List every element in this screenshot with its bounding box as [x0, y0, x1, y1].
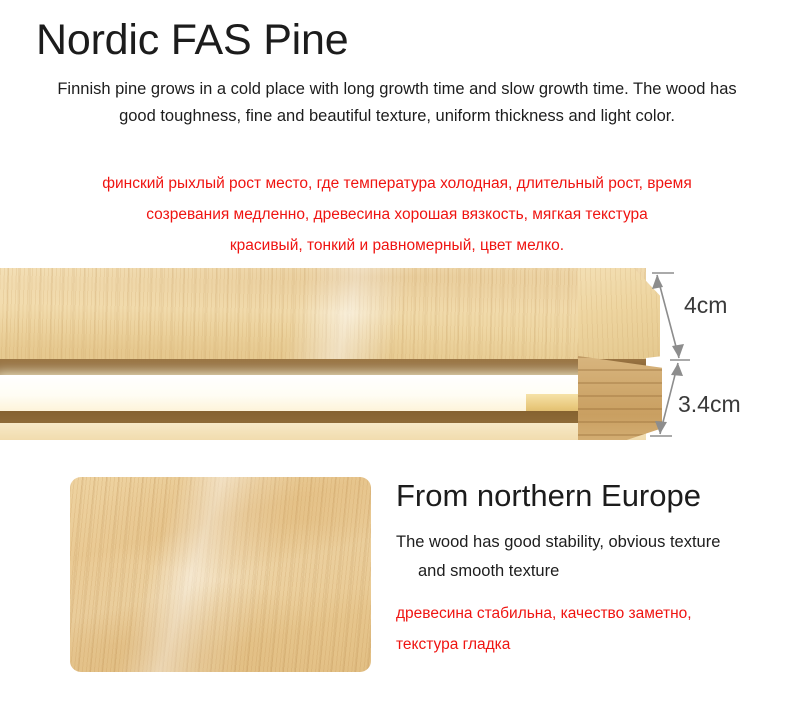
product-detail-page: Nordic FAS Pine Finnish pine grows in a … [0, 0, 790, 713]
section-english-line-2: and smooth texture [396, 557, 766, 586]
dimension-annotations: 4cm 3.4cm [640, 262, 790, 444]
russian-line-2: созревания медленно, древесина хорошая в… [30, 199, 764, 230]
section-description-english: The wood has good stability, obvious tex… [396, 528, 766, 586]
description-line-1: Finnish pine grows in a cold place with … [57, 80, 736, 98]
plank-bottom-face [0, 423, 646, 440]
dimension-label-height-top: 4cm [684, 292, 727, 319]
section-russian-line-1: древесина стабильна, качество заметно, [396, 598, 766, 629]
section-english-line-1: The wood has good stability, obvious tex… [396, 533, 720, 551]
section-russian-line-2: текстура гладка [396, 629, 766, 660]
section-description-russian: древесина стабильна, качество заметно, т… [396, 598, 766, 660]
section-heading-origin: From northern Europe [396, 477, 701, 515]
product-description-russian: финский рыхлый рост место, где температу… [30, 168, 764, 261]
plank-top-face [0, 268, 646, 360]
description-line-2: good toughness, fine and beautiful textu… [30, 103, 764, 130]
russian-line-1: финский рыхлый рост место, где температу… [30, 168, 764, 199]
dimension-label-height-bottom: 3.4cm [678, 391, 741, 418]
pine-wood-sample-swatch [70, 477, 371, 672]
led-light-strip [0, 375, 606, 412]
russian-line-3: красивый, тонкий и равномерный, цвет мел… [30, 230, 764, 261]
page-title: Nordic FAS Pine [36, 12, 348, 68]
product-description-english: Finnish pine grows in a cold place with … [30, 76, 764, 130]
wooden-led-plank-image [0, 268, 680, 440]
plank-upper-rail [0, 359, 646, 376]
